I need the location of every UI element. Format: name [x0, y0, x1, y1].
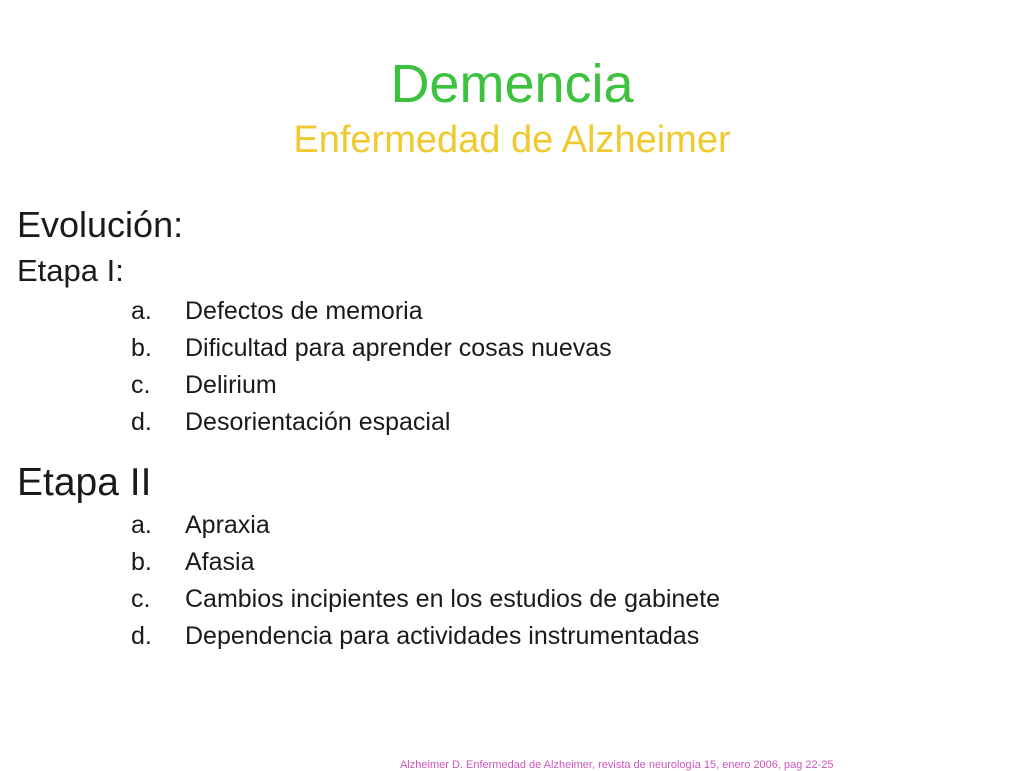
page-title: Demencia: [0, 56, 1024, 113]
list-item-text: Defectos de memoria: [185, 299, 423, 324]
list-item: b. Afasia: [17, 544, 1007, 581]
list-item-text: Apraxia: [185, 513, 270, 538]
list-item: c. Delirium: [17, 367, 1007, 404]
list-item-text: Dependencia para actividades instrumenta…: [185, 624, 699, 649]
list-marker: c.: [131, 587, 185, 612]
list-marker: a.: [131, 299, 185, 324]
list-marker: c.: [131, 373, 185, 398]
list-item: c. Cambios incipientes en los estudios d…: [17, 581, 1007, 618]
list-item-text: Cambios incipientes en los estudios de g…: [185, 587, 720, 612]
list-item: d. Dependencia para actividades instrume…: [17, 618, 1007, 655]
slide-body: Evolución: Etapa I: a. Defectos de memor…: [17, 205, 1007, 655]
source-citation: Alzheimer D. Enfermedad de Alzheimer, re…: [400, 759, 1024, 771]
stage-1-list: a. Defectos de memoria b. Dificultad par…: [17, 293, 1007, 441]
stage-2-list: a. Apraxia b. Afasia c. Cambios incipien…: [17, 507, 1007, 655]
list-item: a. Defectos de memoria: [17, 293, 1007, 330]
list-item: a. Apraxia: [17, 507, 1007, 544]
list-marker: d.: [131, 624, 185, 649]
list-item-text: Desorientación espacial: [185, 410, 450, 435]
section-heading-evolucion: Evolución:: [17, 205, 1007, 245]
list-item-text: Dificultad para aprender cosas nuevas: [185, 336, 612, 361]
title-block: Demencia Enfermedad de Alzheimer: [0, 56, 1024, 162]
list-item: d. Desorientación espacial: [17, 404, 1007, 441]
list-marker: b.: [131, 336, 185, 361]
list-marker: d.: [131, 410, 185, 435]
page-subtitle: Enfermedad de Alzheimer: [0, 119, 1024, 162]
stage-heading-2: Etapa II: [17, 461, 1007, 505]
list-item-text: Delirium: [185, 373, 277, 398]
list-item: b. Dificultad para aprender cosas nuevas: [17, 330, 1007, 367]
list-marker: a.: [131, 513, 185, 538]
slide-canvas: Demencia Enfermedad de Alzheimer Evoluci…: [0, 0, 1024, 768]
list-item-text: Afasia: [185, 550, 254, 575]
stage-heading-1: Etapa I:: [17, 253, 1007, 288]
list-marker: b.: [131, 550, 185, 575]
